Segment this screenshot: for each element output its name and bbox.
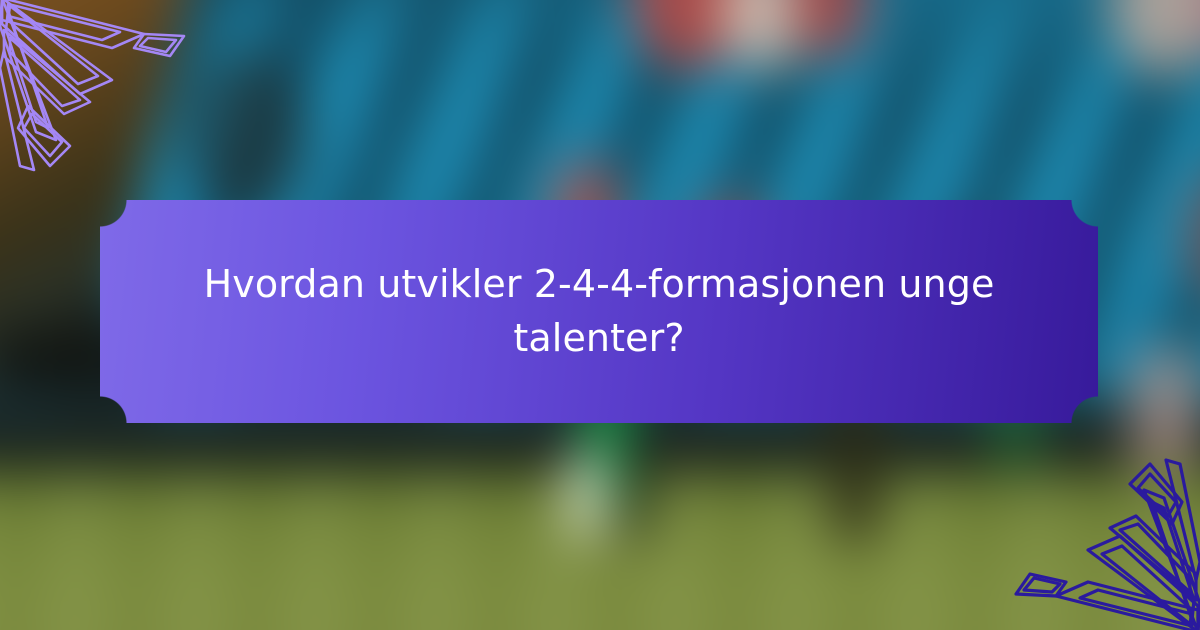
player-silhouette [1130,350,1200,470]
title-card: Hvordan utvikler 2-4-4-formasjonen unge … [100,200,1098,423]
page-title: Hvordan utvikler 2-4-4-formasjonen unge … [100,200,1098,423]
player-silhouette [570,450,604,540]
social-card-image: Hvordan utvikler 2-4-4-formasjonen unge … [0,0,1200,630]
crowd-blob [180,50,310,220]
player-silhouette [620,440,650,540]
